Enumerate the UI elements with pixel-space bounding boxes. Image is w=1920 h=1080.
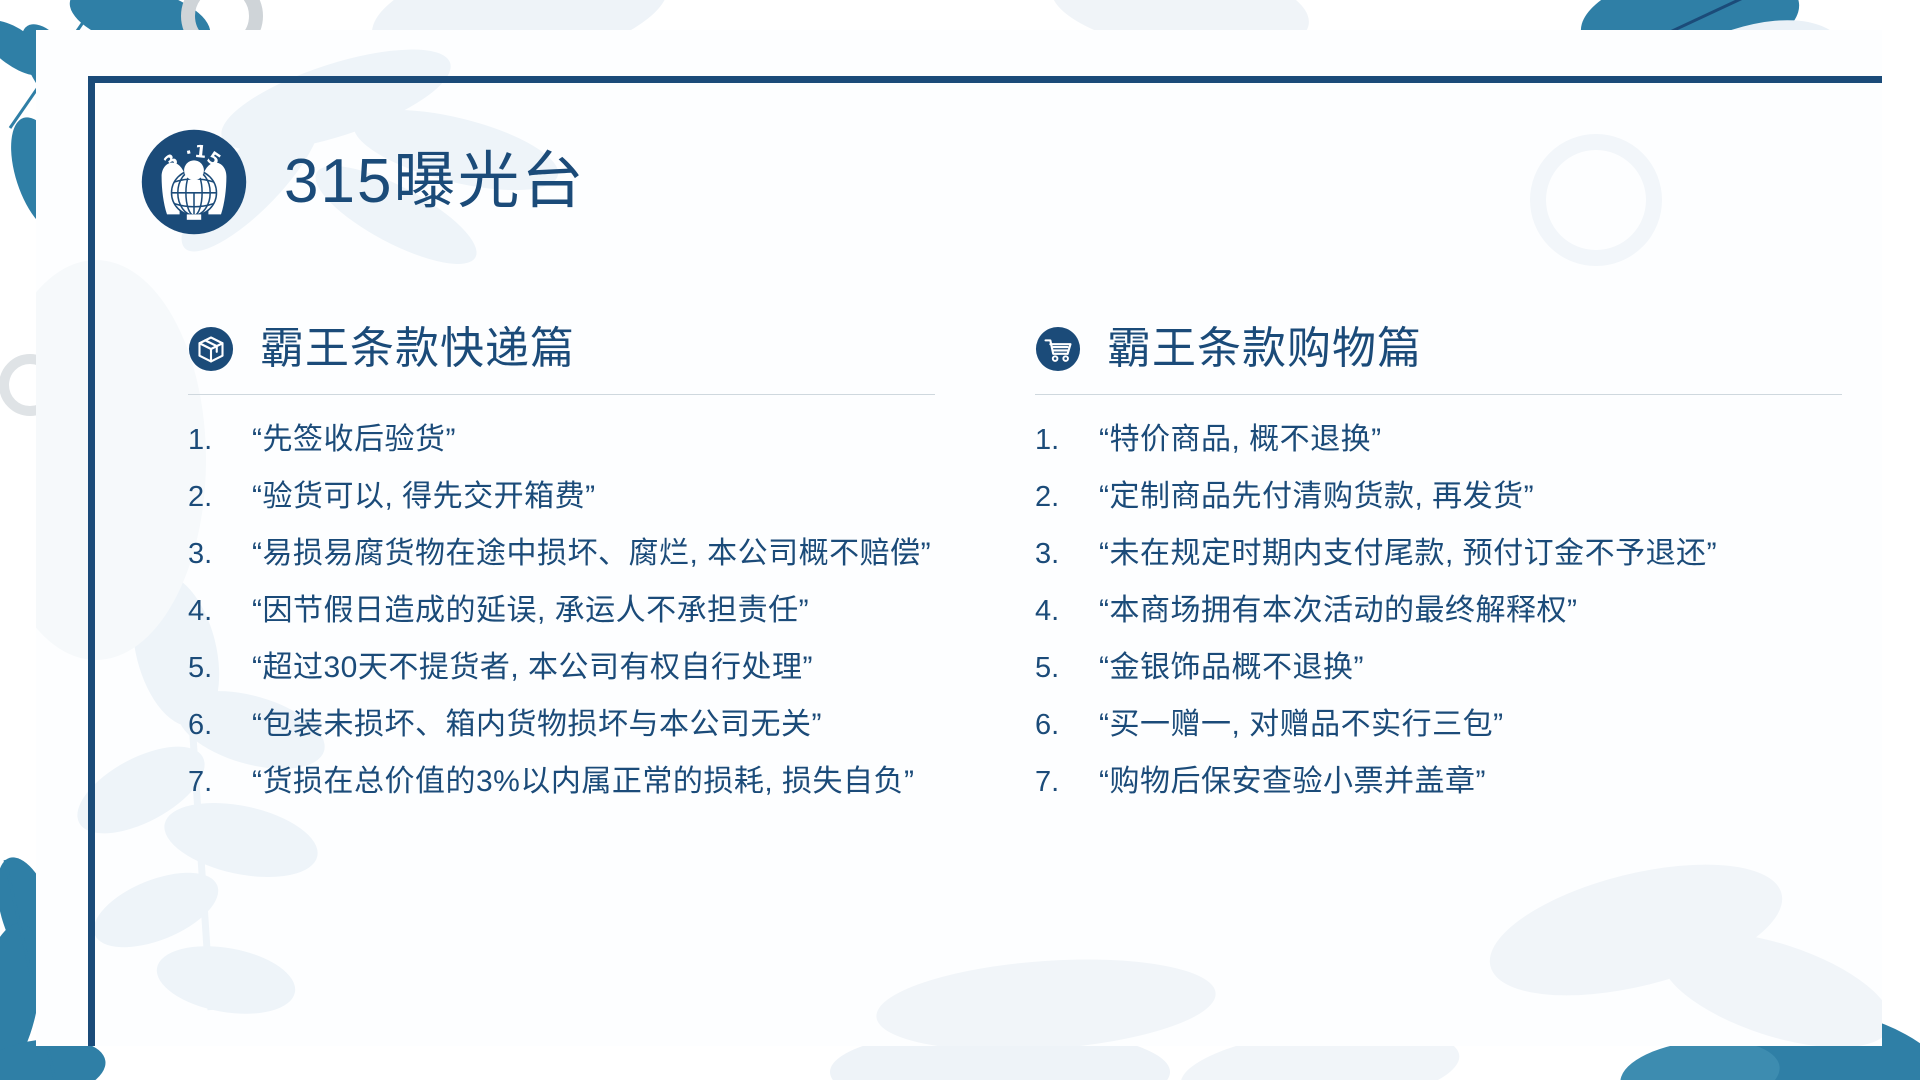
list-item-number: 5. <box>1035 654 1099 683</box>
list-item: 6. “买一赠一, 对赠品不实行三包” <box>1035 710 1842 740</box>
content-card: 3 · 1 5 315曝光台 <box>36 30 1882 1046</box>
list-item-text: “购物后保安查验小票并盖章” <box>1099 767 1842 797</box>
list-item-number: 3. <box>1035 540 1099 569</box>
column-shopping-list: 1. “特价商品, 概不退换” 2. “定制商品先付清购货款, 再发货” 3. … <box>1035 425 1842 797</box>
list-item: 1. “先签收后验货” <box>188 425 935 455</box>
list-item: 2. “定制商品先付清购货款, 再发货” <box>1035 482 1842 512</box>
list-item-number: 6. <box>188 711 252 740</box>
column-shopping-divider <box>1035 394 1842 395</box>
list-item-text: “易损易腐货物在途中损坏、腐烂, 本公司概不赔偿” <box>252 539 935 569</box>
list-item-number: 1. <box>1035 426 1099 455</box>
list-item: 4. “本商场拥有本次活动的最终解释权” <box>1035 596 1842 626</box>
list-item-text: “货损在总价值的3%以内属正常的损耗, 损失自负” <box>252 767 935 797</box>
slide-canvas: 3 · 1 5 315曝光台 <box>0 0 1920 1080</box>
list-item-text: “验货可以, 得先交开箱费” <box>252 482 935 512</box>
list-item-number: 1. <box>188 426 252 455</box>
shopping-cart-icon <box>1035 326 1081 372</box>
315-consumer-rights-logo-icon: 3 · 1 5 <box>140 128 248 236</box>
list-item-text: “金银饰品概不退换” <box>1099 653 1842 683</box>
list-item-text: “包装未损坏、箱内货物损坏与本公司无关” <box>252 710 935 740</box>
list-item-number: 2. <box>188 483 252 512</box>
column-shopping: 霸王条款购物篇 1. “特价商品, 概不退换” 2. “定制商品先付清购货款, … <box>995 326 1882 824</box>
column-express: 霸王条款快递篇 1. “先签收后验货” 2. “验货可以, 得先交开箱费” <box>88 326 995 824</box>
list-item-text: “未在规定时期内支付尾款, 预付订金不予退还” <box>1099 539 1842 569</box>
list-item-text: “因节假日造成的延误, 承运人不承担责任” <box>252 596 935 626</box>
package-box-icon <box>188 326 234 372</box>
list-item-text: “超过30天不提货者, 本公司有权自行处理” <box>252 653 935 683</box>
column-express-header: 霸王条款快递篇 <box>188 326 935 372</box>
list-item-number: 2. <box>1035 483 1099 512</box>
list-item-number: 6. <box>1035 711 1099 740</box>
list-item: 2. “验货可以, 得先交开箱费” <box>188 482 935 512</box>
column-shopping-header: 霸王条款购物篇 <box>1035 326 1842 372</box>
list-item: 5. “金银饰品概不退换” <box>1035 653 1842 683</box>
list-item-number: 7. <box>1035 768 1099 797</box>
column-shopping-heading: 霸王条款购物篇 <box>1107 327 1422 371</box>
list-item: 7. “购物后保安查验小票并盖章” <box>1035 767 1842 797</box>
list-item-text: “买一赠一, 对赠品不实行三包” <box>1099 710 1842 740</box>
list-item-number: 4. <box>1035 597 1099 626</box>
columns-wrapper: 霸王条款快递篇 1. “先签收后验货” 2. “验货可以, 得先交开箱费” <box>88 326 1882 824</box>
column-express-list: 1. “先签收后验货” 2. “验货可以, 得先交开箱费” 3. “易损易腐货物… <box>188 425 935 797</box>
list-item-text: “先签收后验货” <box>252 425 935 455</box>
list-item-text: “特价商品, 概不退换” <box>1099 425 1842 455</box>
list-item-number: 7. <box>188 768 252 797</box>
list-item-number: 3. <box>188 540 252 569</box>
list-item: 3. “易损易腐货物在途中损坏、腐烂, 本公司概不赔偿” <box>188 539 935 569</box>
column-express-divider <box>188 394 935 395</box>
list-item: 3. “未在规定时期内支付尾款, 预付订金不予退还” <box>1035 539 1842 569</box>
list-item-text: “本商场拥有本次活动的最终解释权” <box>1099 596 1842 626</box>
list-item: 7. “货损在总价值的3%以内属正常的损耗, 损失自负” <box>188 767 935 797</box>
list-item-number: 5. <box>188 654 252 683</box>
list-item: 5. “超过30天不提货者, 本公司有权自行处理” <box>188 653 935 683</box>
list-item-text: “定制商品先付清购货款, 再发货” <box>1099 482 1842 512</box>
list-item: 6. “包装未损坏、箱内货物损坏与本公司无关” <box>188 710 935 740</box>
list-item: 4. “因节假日造成的延误, 承运人不承担责任” <box>188 596 935 626</box>
column-express-heading: 霸王条款快递篇 <box>260 327 575 371</box>
slide-content: 3 · 1 5 315曝光台 <box>88 76 1882 1046</box>
slide-header: 3 · 1 5 315曝光台 <box>140 128 585 236</box>
list-item-number: 4. <box>188 597 252 626</box>
page-title: 315曝光台 <box>284 151 585 213</box>
list-item: 1. “特价商品, 概不退换” <box>1035 425 1842 455</box>
